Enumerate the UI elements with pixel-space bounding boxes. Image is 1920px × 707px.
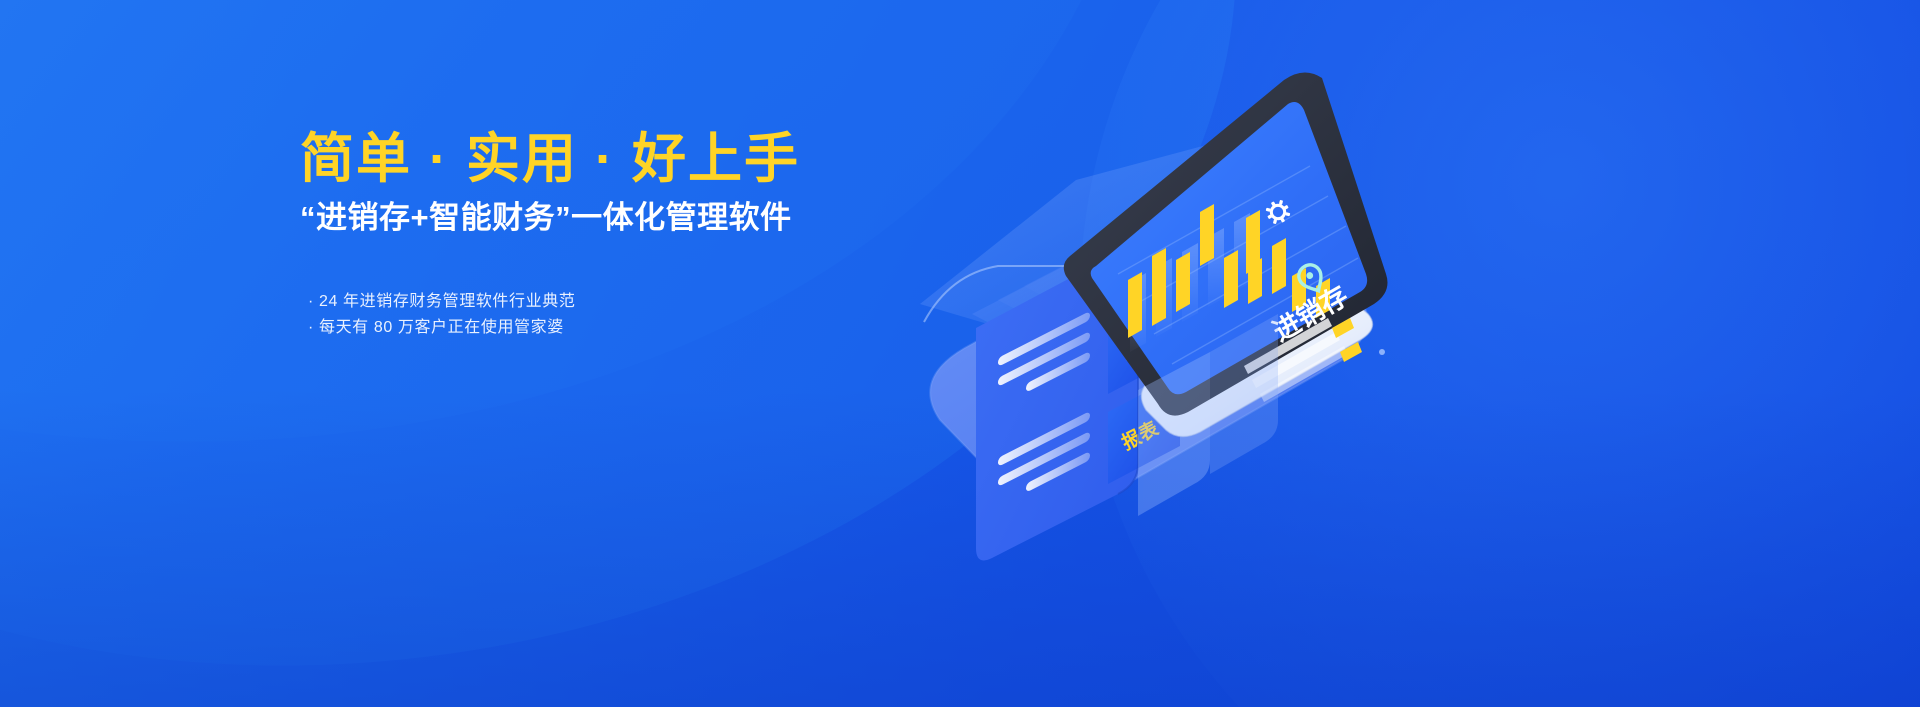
copy-block: 简单 · 实用 · 好上手 “进销存+智能财务”一体化管理软件 · 24 年进销… (300, 128, 920, 341)
page-subtitle: “进销存+智能财务”一体化管理软件 (300, 199, 920, 238)
list-item: · 24 年进销存财务管理软件行业典范 (308, 289, 920, 315)
feature-bullet-list: · 24 年进销存财务管理软件行业典范 · 每天有 80 万客户正在使用管家婆 (308, 289, 920, 341)
list-item: · 每天有 80 万客户正在使用管家婆 (308, 315, 920, 341)
page-title: 简单 · 实用 · 好上手 (300, 128, 920, 191)
isometric-laptop-illustration: 财务 报表 (880, 60, 1400, 660)
hero-banner: 简单 · 实用 · 好上手 “进销存+智能财务”一体化管理软件 · 24 年进销… (0, 0, 1920, 707)
sparkle-dot (1379, 349, 1385, 355)
